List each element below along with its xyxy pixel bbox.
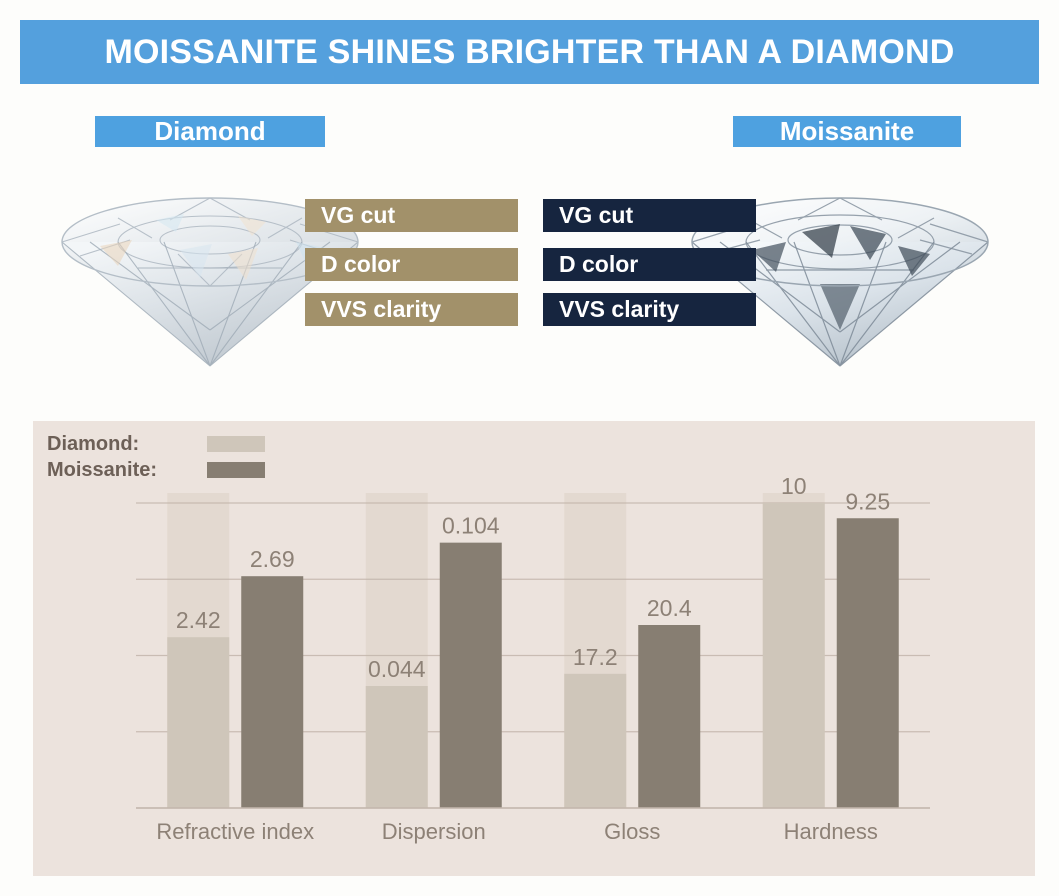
moissanite-spec-cut: VG cut bbox=[543, 199, 756, 232]
diamond-spec-clarity: VVS clarity bbox=[305, 293, 518, 326]
chart-bar bbox=[366, 686, 428, 808]
moissanite-spec-clarity: VVS clarity bbox=[543, 293, 756, 326]
chart-bar bbox=[167, 637, 229, 808]
chart-bar bbox=[763, 503, 825, 808]
category-label: Refractive index bbox=[156, 819, 314, 844]
chart-bar bbox=[638, 625, 700, 808]
diamond-spec-color: D color bbox=[305, 248, 518, 281]
badge-moissanite: Moissanite bbox=[733, 116, 961, 147]
comparison-chart-panel: Diamond: Moissanite: 2.420.04417.2102.69… bbox=[33, 421, 1035, 876]
chart-bar bbox=[564, 674, 626, 808]
moissanite-spec-color: D color bbox=[543, 248, 756, 281]
title-banner: MOISSANITE SHINES BRIGHTER THAN A DIAMON… bbox=[20, 20, 1039, 84]
category-label: Hardness bbox=[784, 819, 878, 844]
bar-value-label: 10 bbox=[781, 473, 807, 499]
bar-value-label: 17.2 bbox=[573, 644, 618, 670]
chart-bar bbox=[837, 518, 899, 808]
bar-value-label: 20.4 bbox=[647, 595, 692, 621]
bar-value-label: 0.104 bbox=[442, 513, 500, 539]
chart-svg: 2.420.04417.2102.690.10420.49.25Refracti… bbox=[33, 421, 1035, 876]
bar-value-label: 9.25 bbox=[845, 488, 890, 514]
bar-value-label: 2.42 bbox=[176, 607, 221, 633]
gem-showcase: VG cut D color VVS clarity VG cut D colo… bbox=[0, 160, 1059, 410]
bar-value-label: 2.69 bbox=[250, 546, 295, 572]
category-label: Gloss bbox=[604, 819, 660, 844]
bar-chart: 2.420.04417.2102.690.10420.49.25Refracti… bbox=[33, 421, 1035, 876]
category-label: Dispersion bbox=[382, 819, 486, 844]
chart-bar bbox=[440, 543, 502, 808]
bar-value-label: 0.044 bbox=[368, 656, 426, 682]
infographic-page: MOISSANITE SHINES BRIGHTER THAN A DIAMON… bbox=[0, 0, 1059, 896]
diamond-spec-cut: VG cut bbox=[305, 199, 518, 232]
page-title: MOISSANITE SHINES BRIGHTER THAN A DIAMON… bbox=[104, 33, 954, 72]
badge-diamond: Diamond bbox=[95, 116, 325, 147]
chart-bar bbox=[241, 576, 303, 808]
